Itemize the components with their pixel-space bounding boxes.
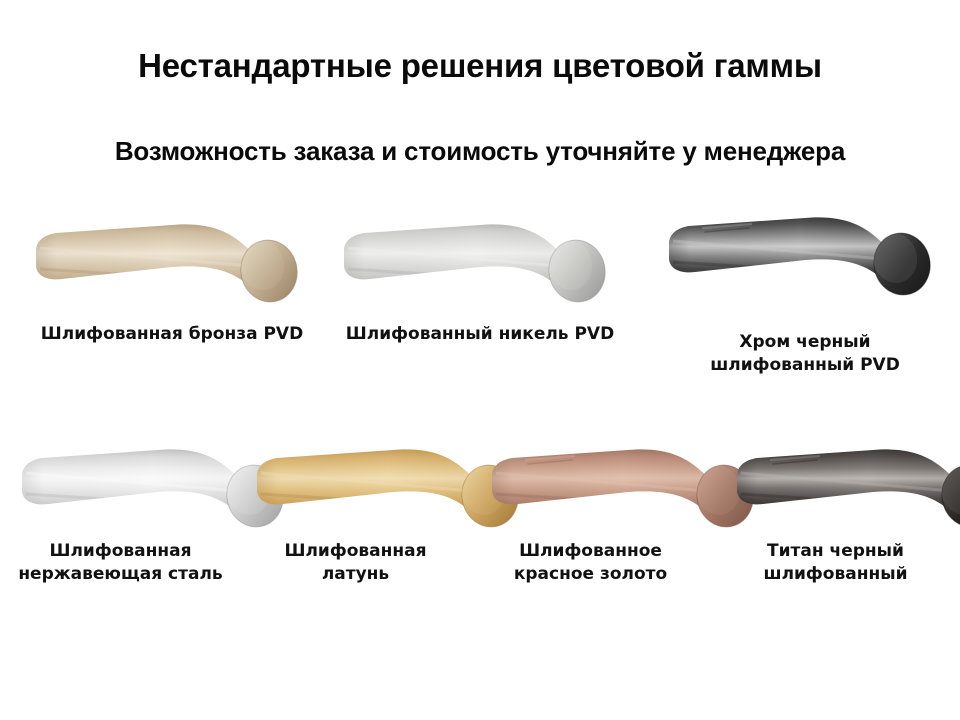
caption-line: шлифованный — [723, 563, 948, 586]
finish-swatch-brushed-brass[interactable]: Шлифованнаялатунь — [243, 430, 468, 530]
finish-caption-brushed-stainless-steel: Шлифованнаянержавеющая сталь — [8, 540, 233, 586]
finish-swatch-brushed-red-gold[interactable]: Шлифованноекрасное золото — [478, 430, 703, 530]
handle-image-brushed-red-gold — [478, 430, 703, 530]
caption-line: Шлифованная — [8, 540, 233, 563]
handle-svg — [655, 198, 945, 308]
handle-end-cap — [543, 235, 611, 307]
finish-swatch-black-brushed-titanium[interactable]: Титан черныйшлифованный — [723, 430, 948, 530]
caption-line: Шлифованный никель PVD — [330, 323, 630, 346]
handle-image-black-brushed-titanium — [723, 430, 948, 530]
finish-caption-brushed-nickel-pvd: Шлифованный никель PVD — [330, 323, 630, 346]
handle-image-brushed-stainless-steel — [8, 430, 233, 530]
handle-svg — [22, 205, 312, 315]
caption-line: Хром черный — [655, 331, 955, 354]
handle-lever-body — [723, 430, 960, 540]
finish-caption-black-chrome-brushed-pvd: Хром черныйшлифованный PVD — [655, 331, 955, 377]
finish-swatch-brushed-bronze-pvd[interactable]: Шлифованная бронза PVD — [22, 205, 322, 315]
page-subtitle: Возможность заказа и стоимость уточняйте… — [0, 137, 960, 166]
page-title: Нестандартные решения цветовой гаммы — [0, 48, 960, 84]
caption-line: красное золото — [478, 563, 703, 586]
finish-swatch-black-chrome-brushed-pvd[interactable]: Хром черныйшлифованный PVD — [655, 198, 955, 308]
caption-line: Титан черный — [723, 540, 948, 563]
handle-image-black-chrome-brushed-pvd — [655, 198, 955, 308]
caption-line: нержавеющая сталь — [8, 563, 233, 586]
finish-caption-black-brushed-titanium: Титан черныйшлифованный — [723, 540, 948, 586]
caption-line: шлифованный PVD — [655, 354, 955, 377]
handle-end-cap — [868, 228, 936, 300]
finish-caption-brushed-bronze-pvd: Шлифованная бронза PVD — [22, 323, 322, 346]
handle-end-cap — [235, 235, 303, 307]
finish-swatch-brushed-nickel-pvd[interactable]: Шлифованный никель PVD — [330, 205, 630, 315]
caption-line: Шлифованная бронза PVD — [22, 323, 322, 346]
handle-svg — [723, 430, 960, 540]
handle-image-brushed-brass — [243, 430, 468, 530]
caption-line: Шлифованная — [243, 540, 468, 563]
handle-svg — [330, 205, 620, 315]
finish-swatch-brushed-stainless-steel[interactable]: Шлифованнаянержавеющая сталь — [8, 430, 233, 530]
finish-caption-brushed-brass: Шлифованнаялатунь — [243, 540, 468, 586]
handle-image-brushed-nickel-pvd — [330, 205, 630, 315]
finish-caption-brushed-red-gold: Шлифованноекрасное золото — [478, 540, 703, 586]
caption-line: латунь — [243, 563, 468, 586]
slide-canvas: Нестандартные решения цветовой гаммы Воз… — [0, 0, 960, 720]
caption-line: Шлифованное — [478, 540, 703, 563]
handle-image-brushed-bronze-pvd — [22, 205, 322, 315]
